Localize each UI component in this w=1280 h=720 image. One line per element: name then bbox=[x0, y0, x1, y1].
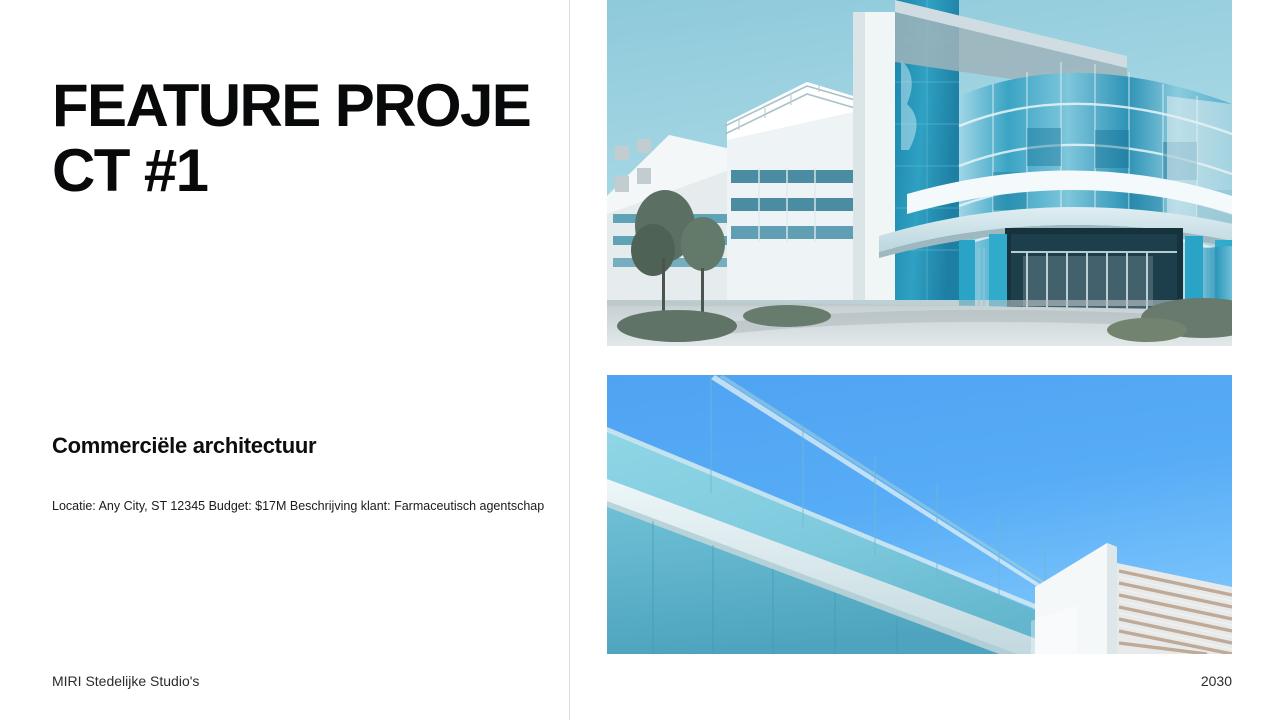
footer-studio-name: MIRI Stedelijke Studio's bbox=[52, 673, 199, 689]
blue-facade-sky-illustration bbox=[607, 375, 1232, 654]
project-meta-text: Locatie: Any City, ST 12345 Budget: $17M… bbox=[52, 497, 552, 515]
page-title: FEATURE PROJECT #1 bbox=[52, 74, 552, 204]
footer-year: 2030 bbox=[1201, 673, 1232, 689]
left-content-panel: FEATURE PROJECT #1 Commerciële architect… bbox=[0, 0, 570, 720]
commercial-building-entrance-illustration bbox=[607, 0, 1232, 346]
right-media-panel: 2030 bbox=[570, 0, 1280, 720]
presentation-slide: FEATURE PROJECT #1 Commerciële architect… bbox=[0, 0, 1280, 720]
project-photo-bottom bbox=[607, 375, 1232, 654]
project-subtitle: Commerciële architectuur bbox=[52, 432, 316, 460]
project-photo-top bbox=[607, 0, 1232, 346]
